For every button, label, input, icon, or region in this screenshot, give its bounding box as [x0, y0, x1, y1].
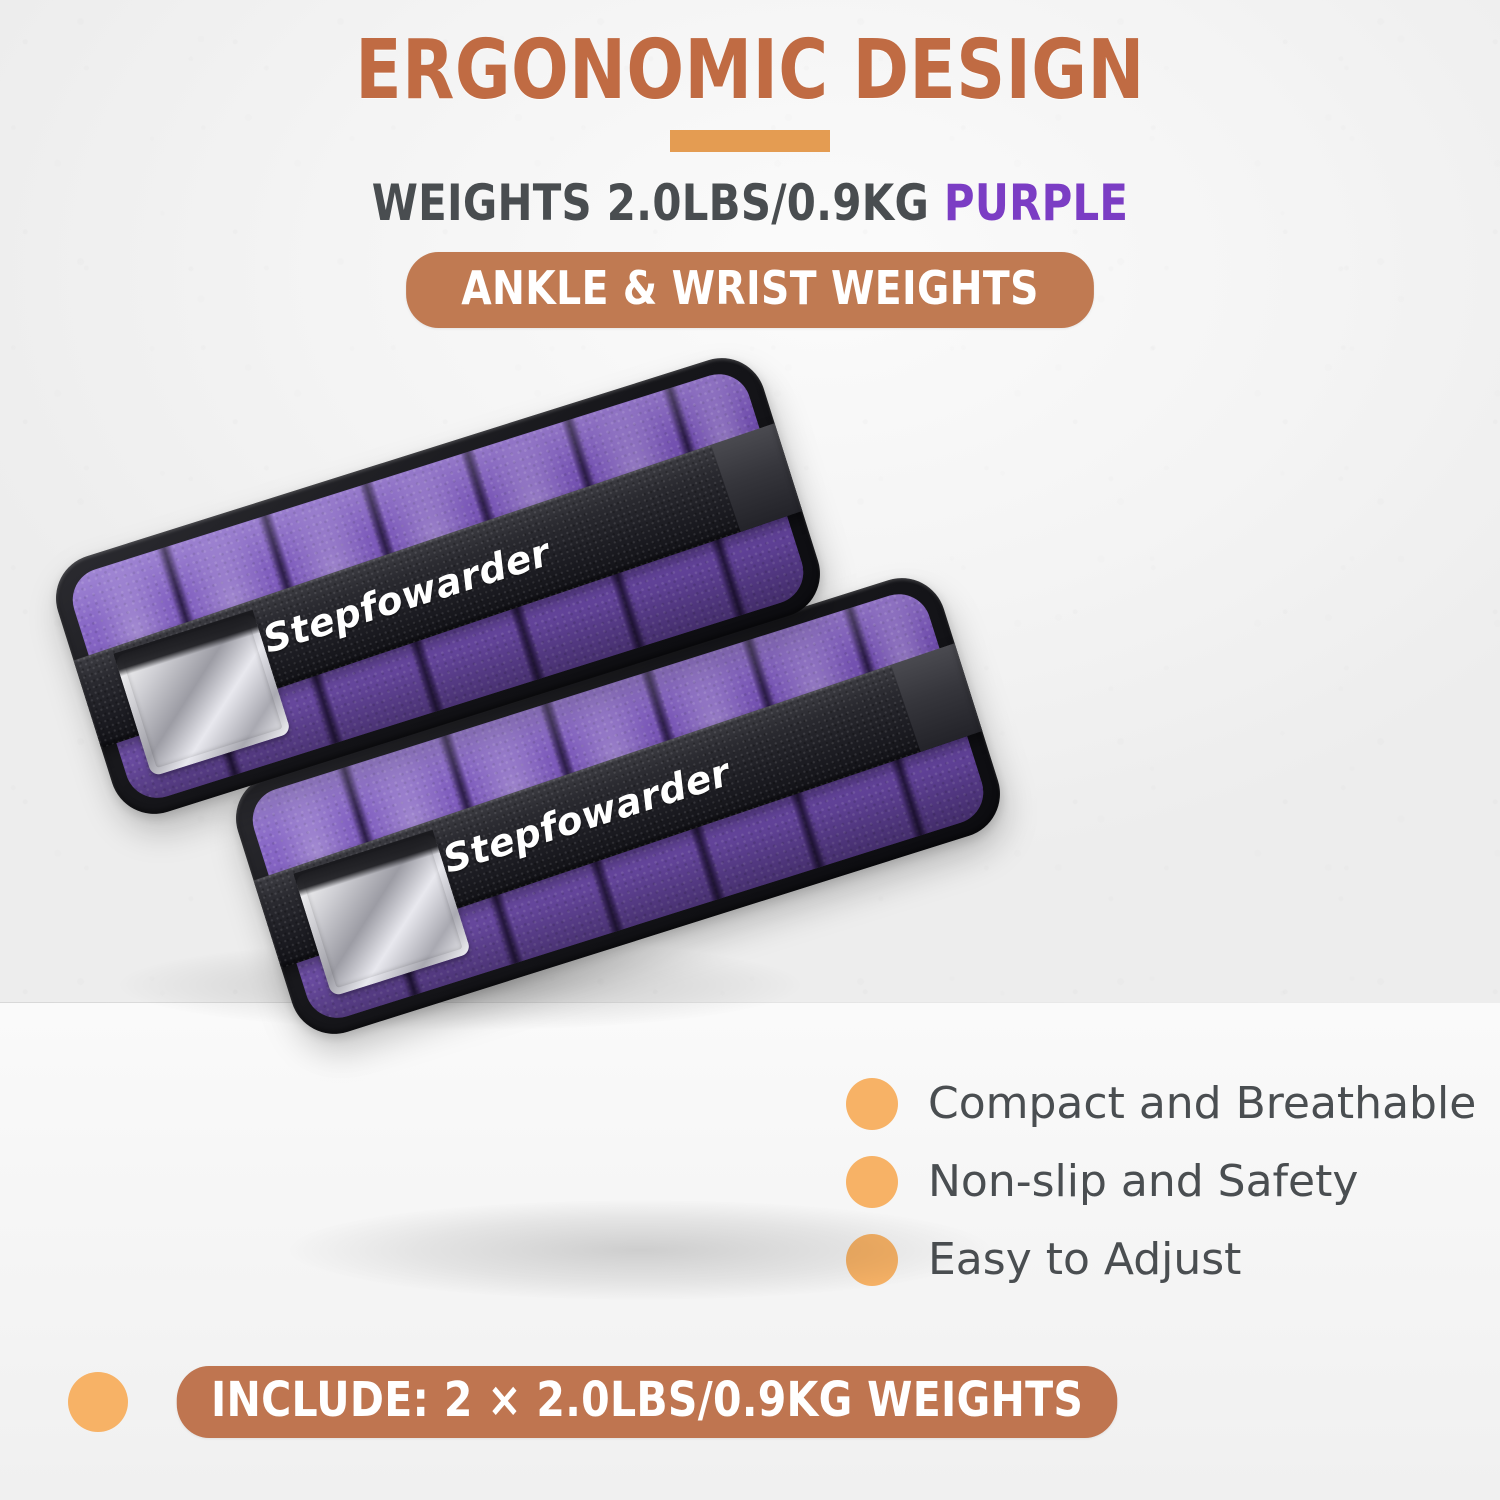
- bullet-dot-icon: [846, 1156, 898, 1208]
- category-badge: ANKLE & WRIST WEIGHTS: [406, 252, 1094, 328]
- feature-item-nonslip: Non-slip and Safety: [846, 1156, 1486, 1208]
- feature-label: Non-slip and Safety: [928, 1159, 1358, 1205]
- feature-label: Compact and Breathable: [928, 1081, 1476, 1127]
- category-badge-wrap: ANKLE & WRIST WEIGHTS: [0, 252, 1500, 328]
- include-banner: INCLUDE: 2 × 2.0LBS/0.9KG WEIGHTS: [68, 1366, 1142, 1438]
- feature-item-adjust: Easy to Adjust: [846, 1234, 1486, 1286]
- product-spec-subtitle: WEIGHTS 2.0LBS/0.9KG PURPLE: [53, 174, 1448, 232]
- page-title: ERGONOMIC DESIGN: [60, 0, 1440, 114]
- bullet-dot-icon: [846, 1234, 898, 1286]
- subtitle-main-text: WEIGHTS 2.0LBS/0.9KG: [372, 174, 944, 232]
- include-pill-label: INCLUDE: 2 × 2.0LBS/0.9KG WEIGHTS: [177, 1366, 1118, 1438]
- header-block: ERGONOMIC DESIGN WEIGHTS 2.0LBS/0.9KG PU…: [0, 0, 1500, 328]
- feature-list: Compact and Breathable Non-slip and Safe…: [846, 1078, 1486, 1312]
- brand-logo-text: Stepfowarder: [438, 750, 736, 882]
- feature-label: Easy to Adjust: [928, 1237, 1241, 1283]
- subtitle-color-accent: PURPLE: [944, 174, 1128, 232]
- bullet-dot-icon: [68, 1372, 128, 1432]
- orange-divider-bar: [670, 130, 830, 152]
- feature-item-compact: Compact and Breathable: [846, 1078, 1486, 1130]
- bullet-dot-icon: [846, 1078, 898, 1130]
- product-marketing-canvas: ERGONOMIC DESIGN WEIGHTS 2.0LBS/0.9KG PU…: [0, 0, 1500, 1500]
- brand-logo-text: Stepfowarder: [258, 530, 556, 662]
